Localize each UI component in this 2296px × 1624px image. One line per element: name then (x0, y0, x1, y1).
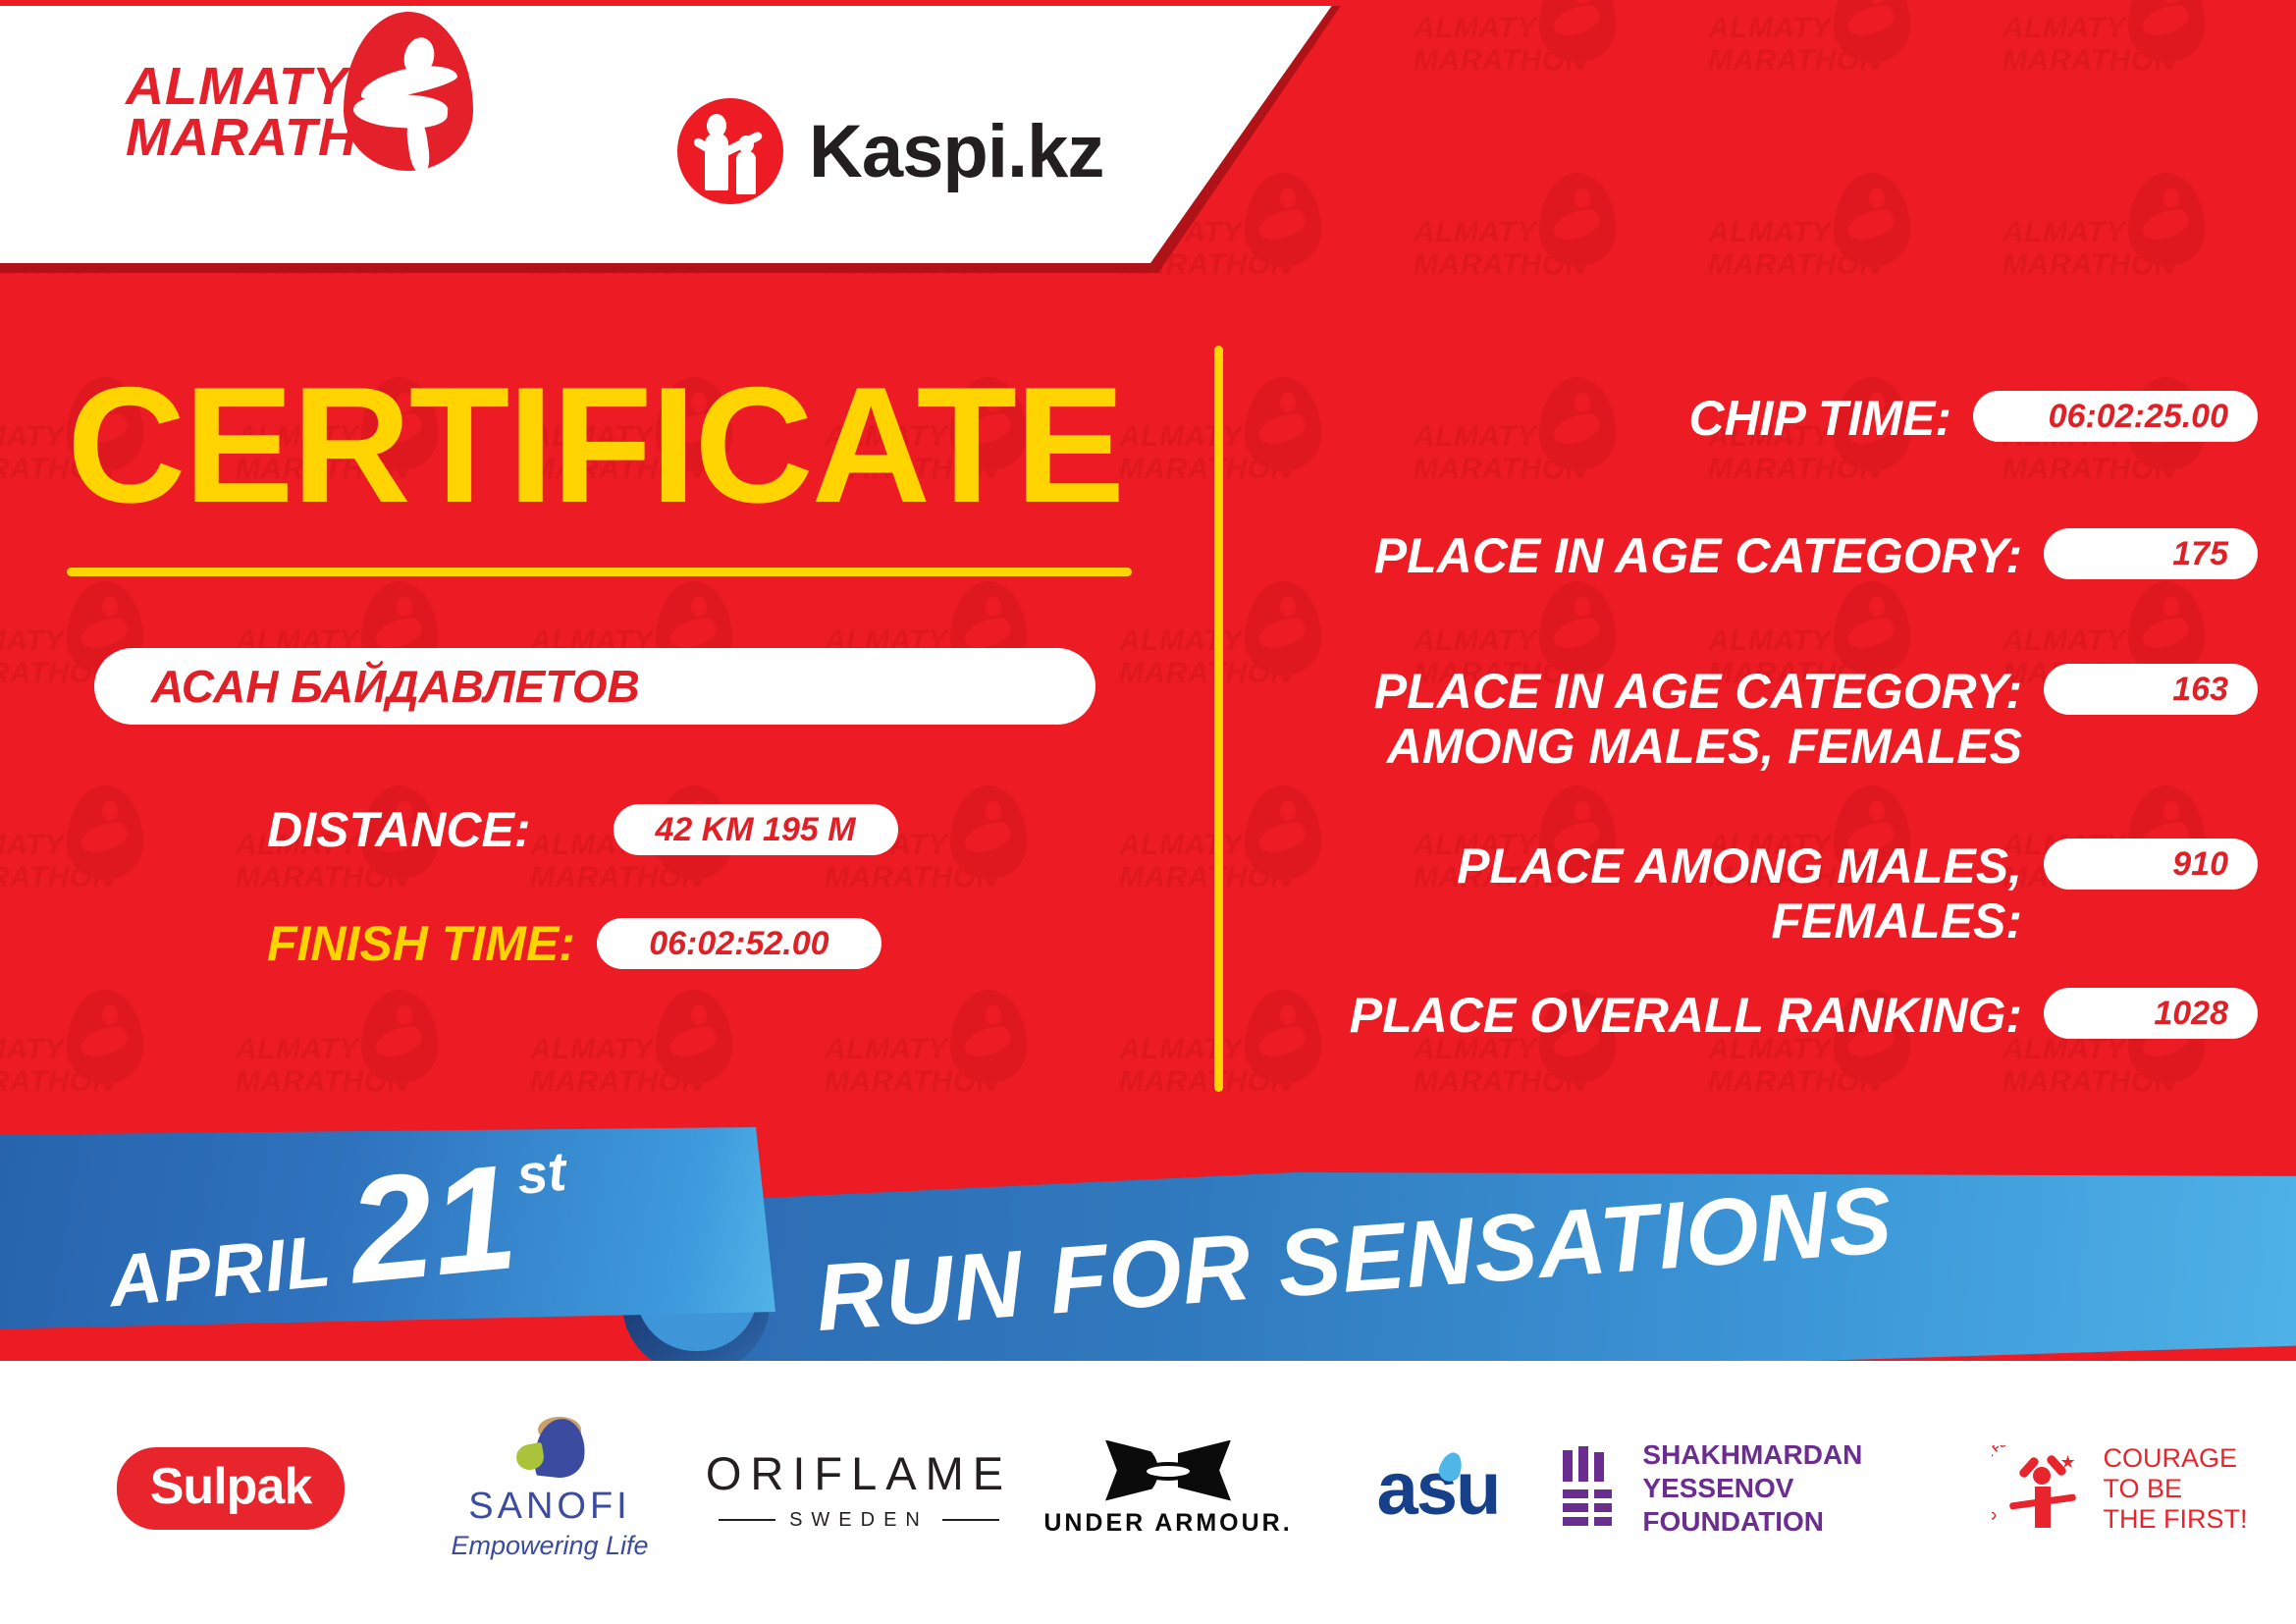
sponsor-yessenov-foundation: SHAKHMARDAN YESSENOV FOUNDATION (1561, 1438, 1973, 1539)
place-overall-ranking-label: PLACE OVERALL RANKING: (1276, 988, 2022, 1043)
asu-text: asu (1377, 1447, 1500, 1531)
almaty-marathon-logo: ALMATY MARATHON (126, 61, 439, 163)
distance-label: DISTANCE: (267, 801, 531, 858)
distance-value: 42 KM 195 M (655, 811, 855, 849)
sponsor-asu: asu (1315, 1446, 1561, 1532)
vertical-divider (1214, 346, 1223, 1092)
yessenov-bar-2 (1578, 1446, 1588, 1482)
place-among-males-females-label: PLACE AMONG MALES, FEMALES: (1276, 839, 2022, 948)
sanofi-wordmark: SANOFI (468, 1486, 630, 1528)
courage-figure-body (2035, 1487, 2051, 1528)
oriflame-wordmark: ORIFLAME (706, 1446, 1012, 1500)
participant-name-field: АСАН БАЙДАВЛЕТОВ (94, 648, 1095, 725)
distance-row: DISTANCE: 42 KM 195 M (267, 801, 898, 858)
place-among-males-females-row: PLACE AMONG MALES, FEMALES: 910 (1276, 839, 2258, 948)
courage-runner-icon: CORPORATE FUND ★ (1994, 1441, 2088, 1536)
yessenov-lockup: SHAKHMARDAN YESSENOV FOUNDATION (1561, 1438, 1973, 1539)
finish-time-value-field: 06:02:52.00 (597, 918, 881, 969)
yessenov-bar-9 (1594, 1517, 1612, 1526)
kaspi-wordmark: Kaspi.kz (809, 109, 1103, 194)
yessenov-bars-icon (1561, 1446, 1619, 1531)
oriflame-sub: SWEDEN (719, 1509, 999, 1532)
yessenov-bar-8 (1563, 1517, 1588, 1526)
sanofi-tagline: Empowering Life (451, 1531, 648, 1561)
sponsor-oriflame: ORIFLAME SWEDEN (697, 1446, 1021, 1532)
sponsor-courage-to-be-the-first: CORPORATE FUND ★ COURAGE TO BE THE FIRST… (1973, 1441, 2268, 1536)
courage-line1: COURAGE (2104, 1443, 2248, 1474)
place-overall-ranking-row: PLACE OVERALL RANKING: 1028 (1276, 988, 2258, 1043)
place-in-age-category-row: PLACE IN AGE CATEGORY: 175 (1276, 528, 2258, 583)
yessenov-bar-7 (1594, 1503, 1612, 1512)
courage-lockup: CORPORATE FUND ★ COURAGE TO BE THE FIRST… (1994, 1441, 2248, 1536)
yessenov-bar-1 (1563, 1450, 1573, 1482)
event-day-ordinal: st (514, 1139, 569, 1207)
under-armour-wordmark: UNDER ARMOUR. (1043, 1509, 1292, 1538)
chip-time-row: CHIP TIME: 06:02:25.00 (1276, 391, 2258, 446)
courage-wordmark: COURAGE TO BE THE FIRST! (2104, 1443, 2248, 1535)
sponsor-under-armour: UNDER ARMOUR. (1021, 1440, 1315, 1538)
place-among-males-females-value-field: 910 (2044, 839, 2258, 890)
under-armour-center-oval-inner (1147, 1466, 1190, 1477)
yessenov-bar-5 (1594, 1489, 1612, 1498)
finish-time-row: FINISH TIME: 06:02:52.00 (267, 915, 881, 972)
place-in-age-category-label: PLACE IN AGE CATEGORY: (1276, 528, 2022, 583)
place-in-age-category-among-label-line2: AMONG MALES, FEMALES (1276, 719, 2022, 774)
asu-wordmark: asu (1377, 1446, 1500, 1532)
certificate-page: ALMATYMARATHONALMATYMARATHONALMATYMARATH… (0, 0, 2296, 1624)
kaspi-people-icon (677, 98, 783, 204)
chip-time-value: 06:02:25.00 (2049, 398, 2228, 436)
oriflame-country: SWEDEN (789, 1509, 929, 1532)
yessenov-line2: FOUNDATION (1642, 1505, 1973, 1539)
title-underline-rule (67, 568, 1132, 576)
yessenov-wordmark: SHAKHMARDAN YESSENOV FOUNDATION (1642, 1438, 1973, 1539)
under-armour-logo-icon (1105, 1440, 1231, 1501)
yessenov-bar-6 (1563, 1503, 1588, 1512)
place-in-age-category-value: 175 (2172, 535, 2228, 573)
yessenov-bar-4 (1563, 1489, 1588, 1498)
finish-time-label: FINISH TIME: (267, 915, 575, 972)
place-overall-ranking-value-field: 1028 (2044, 988, 2258, 1039)
yessenov-line1: SHAKHMARDAN YESSENOV (1642, 1438, 1973, 1505)
place-among-males-females-value: 910 (2172, 845, 2228, 884)
event-day: 21 (345, 1158, 521, 1291)
sponsor-band: Sulpak SANOFI Empowering Life ORIFLAME S… (0, 1361, 2296, 1624)
courage-line2: TO BE (2104, 1474, 2248, 1504)
sanofi-mark-icon (510, 1417, 589, 1482)
place-in-age-category-among-value: 163 (2172, 671, 2228, 709)
place-in-age-category-among-label-line1: PLACE IN AGE CATEGORY: (1276, 664, 2022, 719)
sponsor-list: Sulpak SANOFI Empowering Life ORIFLAME S… (0, 1390, 2296, 1587)
yessenov-bar-3 (1594, 1452, 1604, 1482)
place-in-age-category-value-field: 175 (2044, 528, 2258, 579)
place-in-age-category-among-value-field: 163 (2044, 664, 2258, 715)
participant-name-value: АСАН БАЙДАВЛЕТОВ (151, 660, 640, 713)
kaspi-logo: Kaspi.kz (677, 98, 1103, 204)
sulpak-wordmark: Sulpak (117, 1447, 346, 1530)
kaspi-adult-body (705, 134, 728, 190)
finish-time-value: 06:02:52.00 (649, 925, 828, 963)
place-in-age-category-among-label: PLACE IN AGE CATEGORY: AMONG MALES, FEMA… (1276, 664, 2022, 774)
sponsor-sanofi: SANOFI Empowering Life (402, 1417, 697, 1561)
place-overall-ranking-value: 1028 (2154, 995, 2228, 1033)
page-title: CERTIFICATE (67, 371, 1137, 518)
kaspi-child-body (736, 151, 756, 194)
place-among-males-females-label-line2: FEMALES: (1276, 893, 2022, 948)
courage-figure-head (2033, 1467, 2051, 1485)
chip-time-value-field: 06:02:25.00 (1973, 391, 2258, 442)
sponsor-sulpak: Sulpak (59, 1447, 402, 1530)
distance-value-field: 42 KM 195 M (614, 804, 898, 855)
header-top-rule (0, 0, 1345, 6)
courage-line3: THE FIRST! (2104, 1504, 2248, 1535)
svg-text:CORPORATE FUND: CORPORATE FUND (1992, 1445, 2023, 1522)
runner-leg-shape (352, 91, 449, 132)
place-among-males-females-label-line1: PLACE AMONG MALES, (1276, 839, 2022, 893)
oriflame-rule-right (942, 1519, 999, 1521)
place-in-age-category-among-row: PLACE IN AGE CATEGORY: AMONG MALES, FEMA… (1276, 664, 2258, 774)
oriflame-rule-left (719, 1519, 775, 1521)
chip-time-label: CHIP TIME: (1276, 391, 1951, 446)
